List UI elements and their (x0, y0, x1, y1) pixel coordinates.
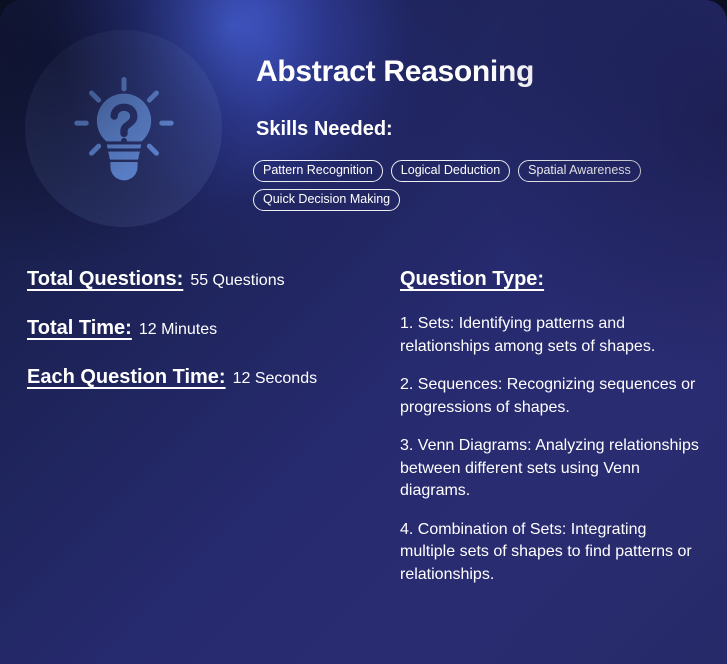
stats-column: Total Questions:55 Questions Total Time:… (27, 268, 377, 415)
skill-tag[interactable]: Spatial Awareness (518, 160, 641, 182)
skills-needed-label: Skills Needed: (256, 118, 393, 141)
stat-value: 12 Minutes (139, 321, 217, 338)
skill-tag-list: Pattern Recognition Logical Deduction Sp… (253, 160, 703, 211)
stat-row: Each Question Time:12 Seconds (27, 366, 377, 389)
question-type-heading: Question Type: (400, 268, 544, 291)
stat-row: Total Time:12 Minutes (27, 317, 377, 340)
card-header: Abstract Reasoning Skills Needed: Patter… (0, 0, 727, 250)
stat-label: Total Questions: (27, 268, 183, 290)
stat-label: Each Question Time: (27, 366, 226, 388)
skill-tag[interactable]: Pattern Recognition (253, 160, 383, 182)
stat-value: 12 Seconds (233, 370, 318, 387)
stat-row: Total Questions:55 Questions (27, 268, 377, 291)
question-type-item: 4. Combination of Sets: Integrating mult… (400, 519, 705, 587)
icon-badge (25, 30, 222, 227)
question-type-item: 3. Venn Diagrams: Analyzing relationship… (400, 435, 705, 503)
abstract-reasoning-card: Abstract Reasoning Skills Needed: Patter… (0, 0, 727, 664)
skill-tag[interactable]: Quick Decision Making (253, 189, 400, 211)
skill-tag[interactable]: Logical Deduction (391, 160, 510, 182)
lightbulb-question-icon (65, 70, 183, 188)
stat-label: Total Time: (27, 317, 132, 339)
question-type-item: 2. Sequences: Recognizing sequences or p… (400, 374, 705, 419)
question-type-column: Question Type: 1. Sets: Identifying patt… (400, 268, 705, 586)
page-title: Abstract Reasoning (256, 55, 534, 89)
question-type-item: 1. Sets: Identifying patterns and relati… (400, 313, 705, 358)
stat-value: 55 Questions (190, 272, 284, 289)
